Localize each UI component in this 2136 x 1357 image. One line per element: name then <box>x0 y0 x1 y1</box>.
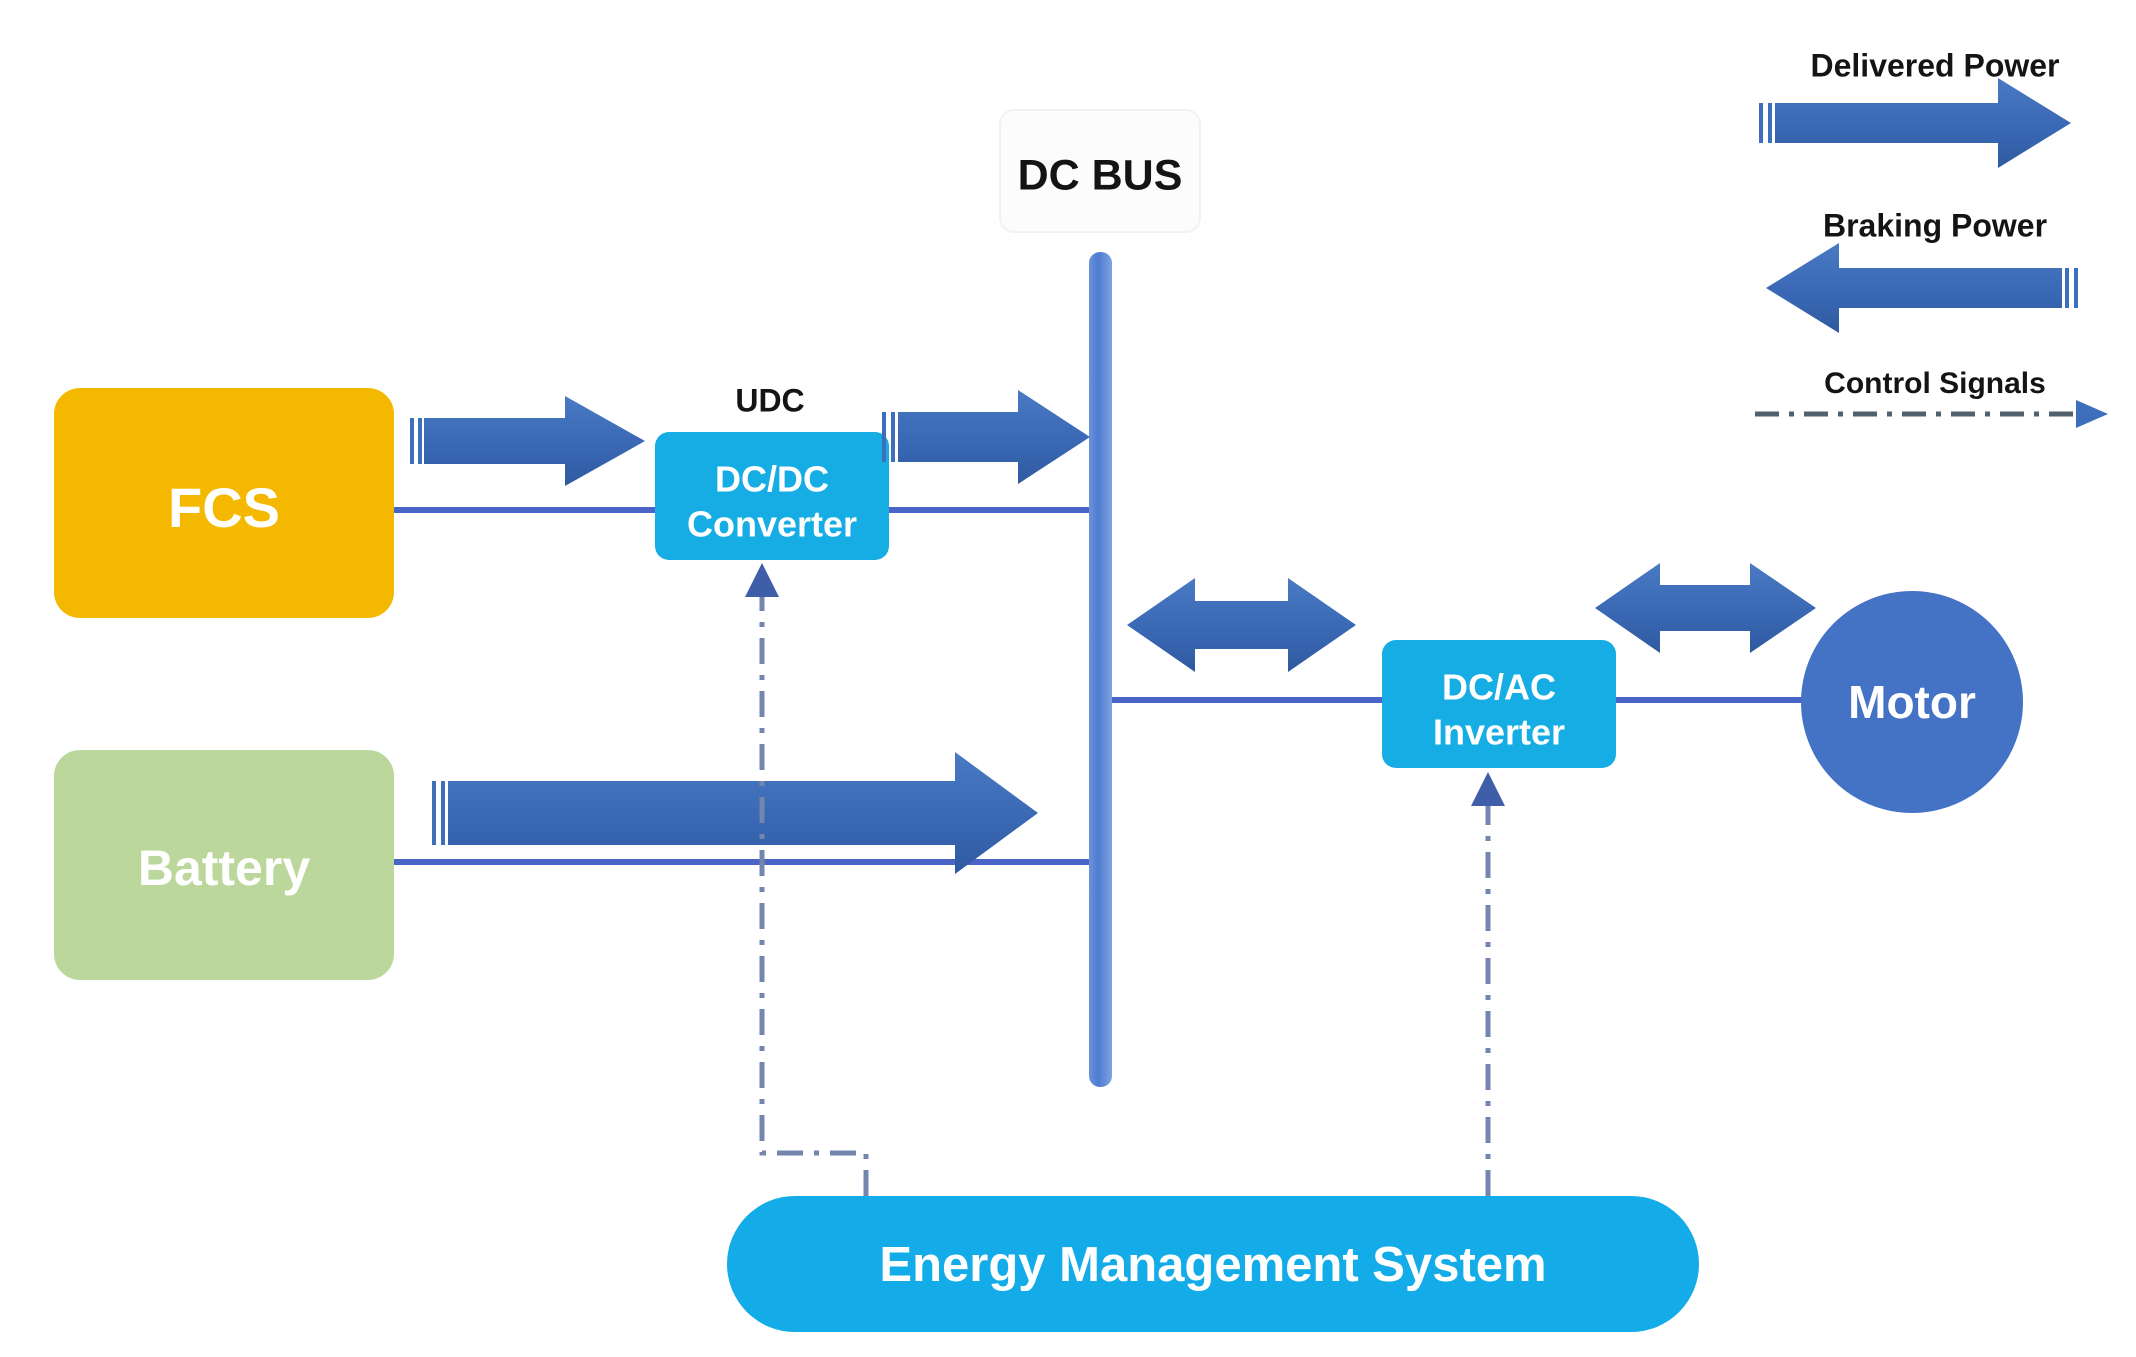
dc-bus-label: DC BUS <box>1018 151 1183 199</box>
dcac-label-line1: DC/AC <box>1442 667 1556 708</box>
control-line-ems-to-dcdc <box>762 588 866 1196</box>
legend-label-control-signals: Control Signals <box>1824 367 2046 400</box>
dcdc-label-line1: DC/DC <box>715 459 829 500</box>
legend-icon-control-signals-arrow <box>1755 400 2108 428</box>
node-dcdc-converter[interactable]: DC/DC Converter <box>655 432 889 560</box>
node-motor[interactable]: Motor <box>1801 591 2023 813</box>
legend-item-braking-power: Braking Power <box>1766 207 2076 333</box>
legend-item-delivered-power: Delivered Power <box>1761 47 2071 168</box>
motor-label: Motor <box>1848 676 1976 728</box>
control-arrowhead-dcdc <box>745 563 779 597</box>
arrow-fcs-to-dcdc <box>412 396 645 486</box>
battery-label: Battery <box>138 840 310 896</box>
dc-bus-bar <box>1089 252 1112 1087</box>
node-battery[interactable]: Battery <box>54 750 394 980</box>
arrow-battery-to-bus <box>434 752 1038 874</box>
legend: Delivered Power Braking Power Control <box>1755 47 2108 428</box>
legend-icon-braking-power-arrow <box>1766 243 2076 333</box>
control-arrowhead-dcac <box>1471 772 1505 806</box>
ems-label: Energy Management System <box>879 1238 1546 1292</box>
node-energy-management-system[interactable]: Energy Management System <box>727 1196 1699 1332</box>
diagram-canvas: DC BUS FCS Battery UDC DC/DC Converter <box>0 0 2136 1357</box>
dcdc-label-line2: Converter <box>687 504 857 545</box>
udc-annotation: UDC <box>735 382 804 418</box>
arrow-dcdc-to-bus <box>884 390 1090 484</box>
fcs-label: FCS <box>168 476 280 539</box>
node-fcs[interactable]: FCS <box>54 388 394 618</box>
dcac-label-line2: Inverter <box>1433 712 1565 753</box>
legend-item-control-signals: Control Signals <box>1755 367 2108 428</box>
energy-flow-diagram: DC BUS FCS Battery UDC DC/DC Converter <box>0 0 2136 1357</box>
dc-bus-label-box: DC BUS <box>1000 110 1200 232</box>
arrow-bus-to-dcac-bidirectional <box>1127 578 1356 672</box>
legend-icon-delivered-power-arrow <box>1761 78 2071 168</box>
legend-label-delivered-power: Delivered Power <box>1811 47 2060 83</box>
arrow-dcac-to-motor-bidirectional <box>1595 563 1816 653</box>
legend-label-braking-power: Braking Power <box>1823 207 2047 243</box>
node-dcac-inverter[interactable]: DC/AC Inverter <box>1382 640 1616 768</box>
